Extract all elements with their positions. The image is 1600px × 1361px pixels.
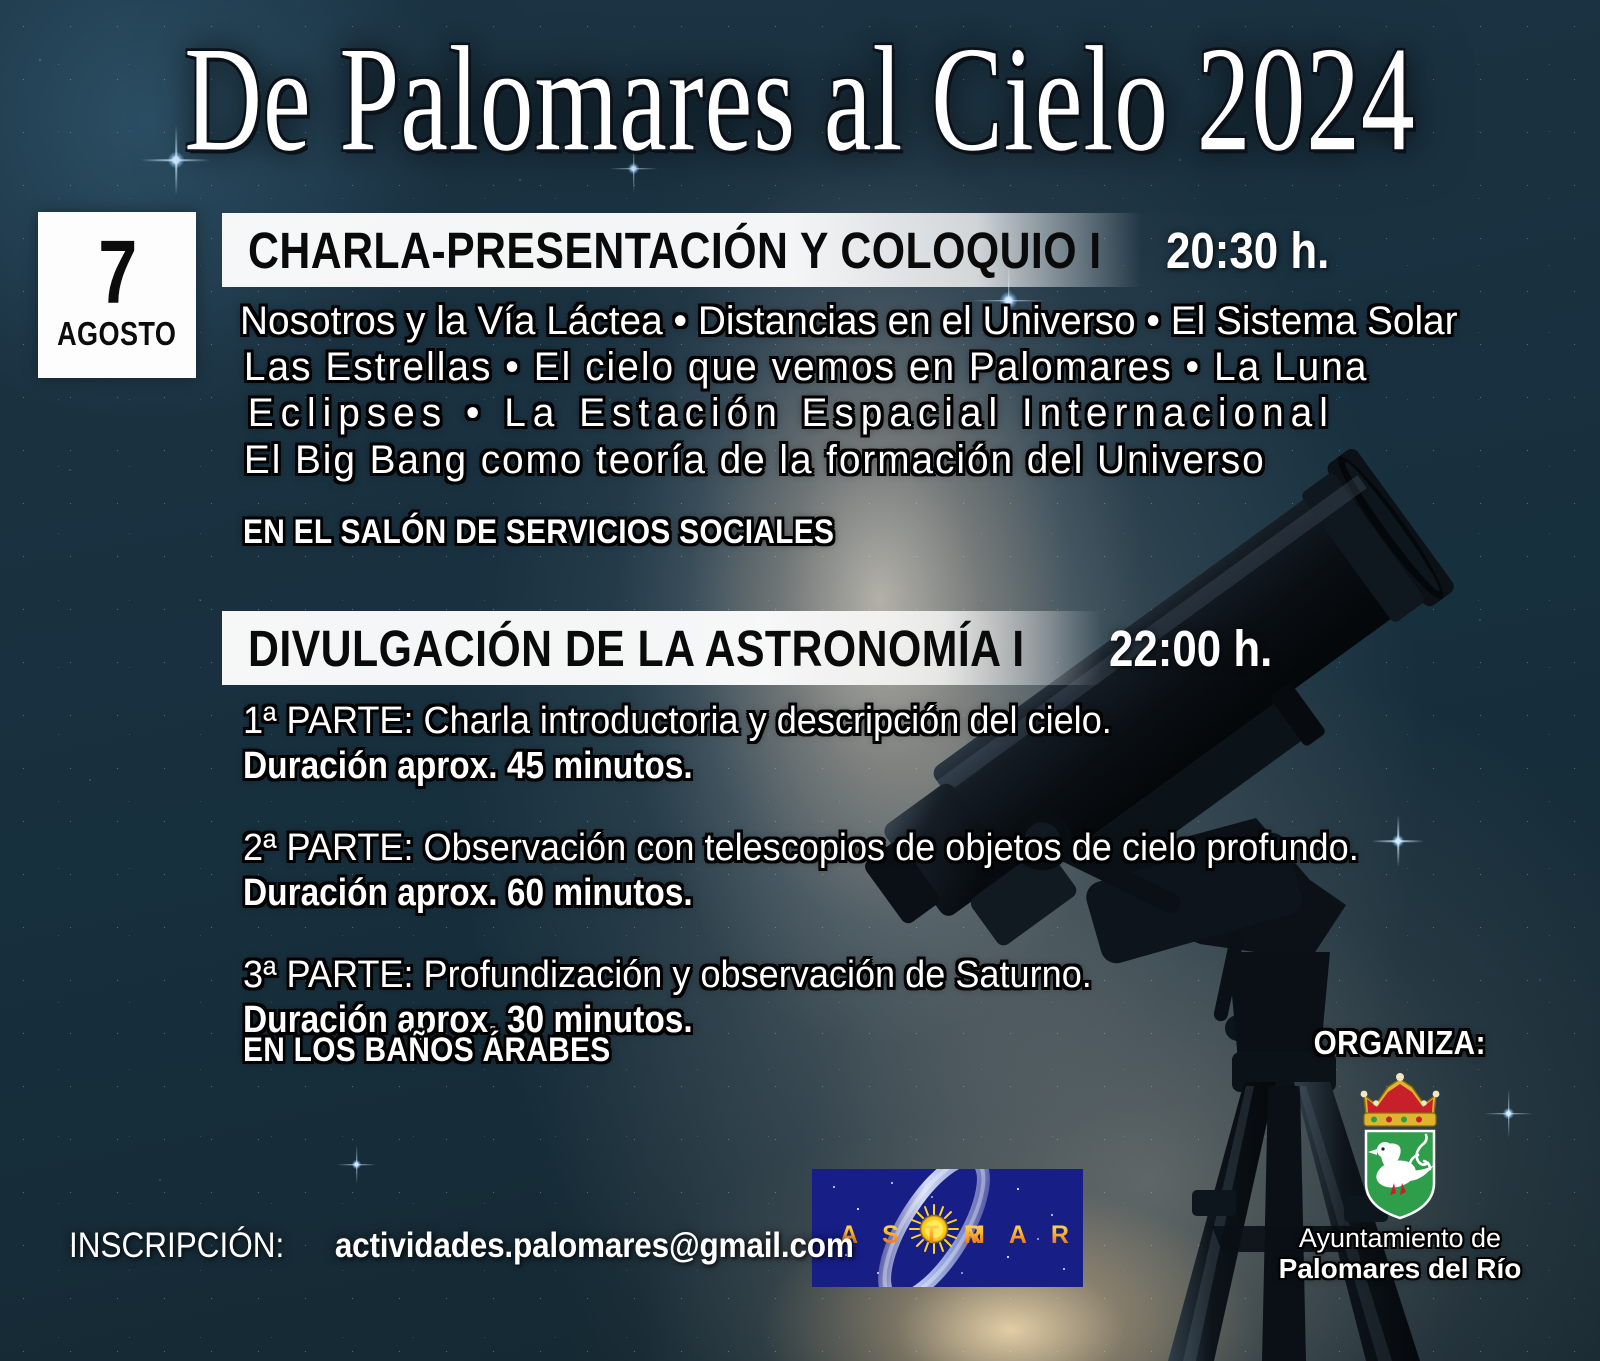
section-1-heading: CHARLA-PRESENTACIÓN Y COLOQUIO I [248,225,1102,276]
date-day: 7 [98,236,135,312]
registration-line: INSCRIPCIÓN: actividades.palomares@gmail… [57,1228,882,1263]
coat-of-arms-icon [1344,1071,1456,1221]
astromares-text-right: M A R E S [964,1221,1083,1249]
bright-star-icon [352,1160,361,1169]
topic-line: Nosotros y la Vía Láctea • Distancias en… [240,300,1379,343]
part-description: 1ª PARTE: Charla introductoria y descrip… [243,700,1288,743]
part-duration: Duración aprox. 60 minutos. [243,872,1211,915]
topic-line: Las Estrellas • El cielo que vemos en Pa… [240,346,1379,389]
poster-title: De Palomares al Cielo 2024 [32,22,1568,180]
organizer-label: ORGANIZA: [1314,1026,1486,1059]
section-2-venue: EN LOS BAÑOS ÁRABES [243,1033,610,1067]
date-month: AGOSTO [57,317,176,350]
organizer-block: ORGANIZA: [1250,1026,1550,1285]
section-2-header-band: DIVULGACIÓN DE LA ASTRONOMÍA I [222,611,1102,685]
part-item: 3ª PARTE: Profundización y observación d… [243,954,1343,1041]
section-1-header-band: CHARLA-PRESENTACIÓN Y COLOQUIO I [222,213,1142,287]
part-description: 3ª PARTE: Profundización y observación d… [243,954,1288,997]
part-item: 2ª PARTE: Observación con telescopios de… [243,827,1343,914]
part-duration: Duración aprox. 45 minutos. [243,745,1211,788]
section-2-time: 22:00 h. [1109,611,1272,685]
date-badge: 7 AGOSTO [38,212,196,378]
section-1-time: 20:30 h. [1166,213,1329,287]
section-2-parts-list: 1ª PARTE: Charla introductoria y descrip… [243,700,1343,1081]
bright-star-icon [1392,835,1404,847]
organizer-name-line1: Ayuntamiento de [1250,1223,1550,1253]
poster-root: De Palomares al Cielo 2024 7 AGOSTO CHAR… [0,0,1600,1361]
topic-line: El Big Bang como teoría de la formación … [240,439,1379,482]
section-2-heading: DIVULGACIÓN DE LA ASTRONOMÍA I [248,623,1025,674]
topic-line: Eclipses • La Estación Espacial Internac… [240,392,1379,435]
section-1-venue: EN EL SALÓN DE SERVICIOS SOCIALES [243,515,834,549]
part-item: 1ª PARTE: Charla introductoria y descrip… [243,700,1343,787]
registration-email[interactable]: actividades.palomares@gmail.com [335,1228,854,1263]
organizer-name-line2: Palomares del Río [1250,1253,1550,1284]
registration-label: INSCRIPCIÓN: [69,1228,284,1263]
part-description: 2ª PARTE: Observación con telescopios de… [243,827,1288,870]
section-1-topic-list: Nosotros y la Vía Láctea • Distancias en… [240,300,1414,485]
